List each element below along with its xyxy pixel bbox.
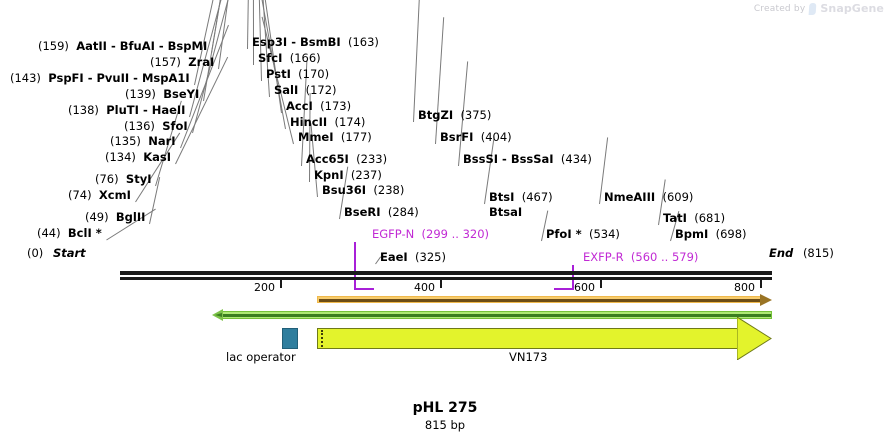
enzyme-name[interactable]: KpnI (314, 168, 344, 182)
enzyme-position: (74) (68, 188, 92, 202)
enzyme-position: (136) (124, 119, 155, 133)
orange-feature-bar[interactable] (317, 296, 762, 303)
enzyme-name[interactable]: BtsaI (489, 205, 522, 219)
snapgene-watermark: Created by SnapGene (754, 2, 884, 15)
primer-range: (560 .. 579) (631, 250, 699, 264)
snapgene-logo-icon (809, 3, 817, 15)
enzyme-name[interactable]: AatII (76, 39, 107, 53)
enzyme-name[interactable]: NarI (148, 134, 175, 148)
enzyme-name[interactable]: SfcI (258, 51, 282, 65)
enzyme-label-sfoi[interactable]: (136) SfoI (124, 120, 188, 132)
ruler-tick-400 (440, 279, 442, 288)
ruler-tick-label-400: 400 (414, 281, 435, 294)
enzyme-label-mmei[interactable]: MmeI (177) (298, 131, 372, 143)
enzyme-name[interactable]: BclI * (68, 226, 102, 240)
enzyme-position: (76) (95, 172, 119, 186)
enzyme-name[interactable]: TatI (663, 211, 687, 225)
enzyme-name[interactable]: BtsI (489, 190, 514, 204)
enzyme-separator: - (107, 39, 120, 53)
watermark-prefix: Created by (754, 4, 806, 14)
watermark-brand: SnapGene (820, 2, 884, 15)
enzyme-label-sali[interactable]: SalI (172) (274, 84, 337, 96)
enzyme-name[interactable]: BfuAI (120, 39, 155, 53)
enzyme-position: (534) (589, 227, 620, 241)
enzyme-leader-line (247, 0, 251, 49)
enzyme-label-bglii[interactable]: (49) BglII (85, 211, 145, 223)
enzyme-position: (138) (68, 103, 99, 117)
enzyme-label-btsi[interactable]: BtsI (467) (489, 191, 553, 203)
enzyme-name[interactable]: SfoI (162, 119, 187, 133)
enzyme-name[interactable]: BssSI (463, 152, 498, 166)
enzyme-name[interactable]: MmeI (298, 130, 334, 144)
primer-label-egfp-n[interactable]: EGFP-N (299 .. 320) (372, 228, 489, 240)
vn173-label: VN173 (509, 350, 547, 364)
enzyme-position: (173) (320, 99, 351, 113)
enzyme-name[interactable]: BseYI (163, 87, 199, 101)
enzyme-label-nmeaiii[interactable]: NmeAIII (609) (604, 191, 693, 203)
enzyme-label-bsu36i[interactable]: Bsu36I (238) (322, 184, 404, 196)
primer-name[interactable]: EXFP-R (583, 250, 624, 264)
enzyme-label-xcmi[interactable]: (74) XcmI (68, 189, 131, 201)
enzyme-separator: - (155, 39, 168, 53)
enzyme-position: (681) (694, 211, 725, 225)
enzyme-label-bsssi[interactable]: BssSI - BssSaI (434) (463, 153, 592, 165)
enzyme-label-btsai[interactable]: BtsaI (489, 206, 522, 218)
enzyme-name[interactable]: PluTI (106, 103, 139, 117)
green-feature-bar[interactable] (221, 311, 772, 319)
enzyme-label-zrai[interactable]: (157) ZraI (150, 56, 214, 68)
enzyme-name[interactable]: KasI (143, 150, 171, 164)
enzyme-name[interactable]: Bsu36I (322, 183, 366, 197)
sequence-backbone-top (120, 271, 772, 275)
orange-arrowhead-icon (760, 294, 772, 306)
ruler-tick-600 (600, 279, 602, 288)
enzyme-name[interactable]: XcmI (99, 188, 131, 202)
ruler-tick-label-200: 200 (254, 281, 275, 294)
snapgene-linear-map: Created by SnapGene (159) AatII - BfuAI … (0, 0, 890, 439)
lac-operator-feature[interactable] (282, 328, 298, 349)
enzyme-position: (404) (481, 130, 512, 144)
enzyme-label-bsrfi[interactable]: BsrFI (404) (440, 131, 512, 143)
enzyme-position: (177) (341, 130, 372, 144)
enzyme-name[interactable]: MspA1I (142, 71, 190, 85)
enzyme-name[interactable]: PvuII (96, 71, 129, 85)
enzyme-position: (163) (348, 35, 379, 49)
start-text: Start (53, 246, 86, 260)
sequence-end-label: End (815) (769, 247, 834, 259)
enzyme-label-kasi[interactable]: (134) KasI (105, 151, 171, 163)
enzyme-position: (166) (290, 51, 321, 65)
enzyme-name[interactable]: AccI (286, 99, 313, 113)
enzyme-label-pluti[interactable]: (138) PluTI - HaeII (68, 104, 185, 116)
end-position: (815) (803, 246, 834, 260)
enzyme-name[interactable]: HincII (290, 115, 327, 129)
enzyme-position: (325) (415, 250, 446, 264)
enzyme-leader-line (211, 0, 248, 53)
enzyme-leader-line (435, 17, 444, 144)
enzyme-position: (237) (351, 168, 382, 182)
enzyme-leader-line (218, 0, 247, 69)
enzyme-label-pspfi[interactable]: (143) PspFI - PvuII - MspA1I (10, 72, 190, 84)
enzyme-label-nari[interactable]: (135) NarI (110, 135, 176, 147)
enzyme-name[interactable]: StyI (126, 172, 152, 186)
enzyme-name[interactable]: BssSaI (511, 152, 554, 166)
enzyme-name[interactable]: Acc65I (306, 152, 349, 166)
enzyme-name[interactable]: Esp3I (252, 35, 287, 49)
primer-bracket-egfp-n (354, 242, 374, 290)
ruler-tick-label-800: 800 (734, 281, 755, 294)
primer-label-exfp-r[interactable]: EXFP-R (560 .. 579) (583, 251, 698, 263)
enzyme-label-acc65i[interactable]: Acc65I (233) (306, 153, 387, 165)
enzyme-name[interactable]: BtgZI (418, 108, 453, 122)
enzyme-separator: - (129, 71, 142, 85)
enzyme-position: (135) (110, 134, 141, 148)
enzyme-name[interactable]: BsrFI (440, 130, 473, 144)
enzyme-name[interactable]: HaeII (152, 103, 186, 117)
enzyme-position: (49) (85, 210, 109, 224)
enzyme-label-btgzi[interactable]: BtgZI (375) (418, 109, 491, 121)
lac-operator-label: lac operator (226, 350, 296, 364)
enzyme-name[interactable]: EaeI (380, 250, 408, 264)
ruler-tick-label-600: 600 (574, 281, 595, 294)
enzyme-name[interactable]: BspMI (168, 39, 208, 53)
enzyme-label-aatii[interactable]: (159) AatII - BfuAI - BspMI (38, 40, 207, 52)
enzyme-position: (172) (306, 83, 337, 97)
enzyme-position: (698) (716, 227, 747, 241)
primer-range: (299 .. 320) (422, 227, 490, 241)
sequence-backbone-bottom (120, 277, 772, 280)
enzyme-label-tati[interactable]: TatI (681) (663, 212, 725, 224)
enzyme-position: (143) (10, 71, 41, 85)
enzyme-separator: - (498, 152, 511, 166)
enzyme-position: (157) (150, 55, 181, 69)
vn173-start-dotted-marker (321, 330, 323, 347)
enzyme-name[interactable]: SalI (274, 83, 298, 97)
enzyme-label-bseyi[interactable]: (139) BseYI (125, 88, 199, 100)
enzyme-name[interactable]: BpmI (675, 227, 708, 241)
enzyme-position: (375) (460, 108, 491, 122)
enzyme-position: (174) (334, 115, 365, 129)
sequence-start-label: (0) Start (27, 247, 86, 259)
enzyme-label-psti[interactable]: PstI (170) (266, 68, 329, 80)
enzyme-position: (233) (356, 152, 387, 166)
enzyme-position: (139) (125, 87, 156, 101)
enzyme-position: (238) (373, 183, 404, 197)
enzyme-name[interactable]: NmeAIII (604, 190, 655, 204)
enzyme-name[interactable]: PfoI * (546, 227, 582, 241)
enzyme-separator: - (139, 103, 152, 117)
enzyme-label-sfci[interactable]: SfcI (166) (258, 52, 321, 64)
page-title: pHL 275 (0, 400, 890, 416)
enzyme-label-bpmi[interactable]: BpmI (698) (675, 228, 747, 240)
enzyme-position: (170) (298, 67, 329, 81)
enzyme-name[interactable]: BsmBI (300, 35, 341, 49)
enzyme-label-bseri[interactable]: BseRI (284) (344, 206, 419, 218)
enzyme-label-acci[interactable]: AccI (173) (286, 100, 351, 112)
primer-name[interactable]: EGFP-N (372, 227, 414, 241)
enzyme-position: (434) (561, 152, 592, 166)
enzyme-label-esp3i[interactable]: Esp3I - BsmBI (163) (252, 36, 379, 48)
enzyme-leader-line (253, 0, 254, 65)
enzyme-position: (467) (522, 190, 553, 204)
start-position: (0) (27, 246, 43, 260)
green-arrowhead-inner-icon (215, 313, 222, 317)
enzyme-name[interactable]: BseRI (344, 205, 381, 219)
enzyme-label-eaei[interactable]: EaeI (325) (380, 251, 446, 263)
enzyme-label-hincii[interactable]: HincII (174) (290, 116, 365, 128)
enzyme-position: (284) (388, 205, 419, 219)
enzyme-name[interactable]: PstI (266, 67, 291, 81)
enzyme-name[interactable]: ZraI (188, 55, 214, 69)
vn173-arrowhead-icon (737, 317, 773, 360)
enzyme-label-pfoi[interactable]: PfoI * (534) (546, 228, 620, 240)
enzyme-position: (609) (662, 190, 693, 204)
enzyme-position: (159) (38, 39, 69, 53)
enzyme-label-kpni[interactable]: KpnI (237) (314, 169, 382, 181)
ruler-tick-800 (760, 279, 762, 288)
enzyme-label-styi[interactable]: (76) StyI (95, 173, 151, 185)
enzyme-position: (44) (37, 226, 61, 240)
enzyme-separator: - (84, 71, 97, 85)
end-text: End (769, 246, 793, 260)
enzyme-leader-line (413, 0, 421, 122)
enzyme-position: (134) (105, 150, 136, 164)
vn173-feature-body[interactable] (317, 328, 738, 349)
plasmid-size-label: 815 bp (0, 418, 890, 432)
enzyme-separator: - (287, 35, 300, 49)
ruler-tick-200 (280, 279, 282, 288)
enzyme-label-bcli[interactable]: (44) BclI * (37, 227, 102, 239)
enzyme-name[interactable]: BglII (116, 210, 146, 224)
enzyme-name[interactable]: PspFI (48, 71, 83, 85)
